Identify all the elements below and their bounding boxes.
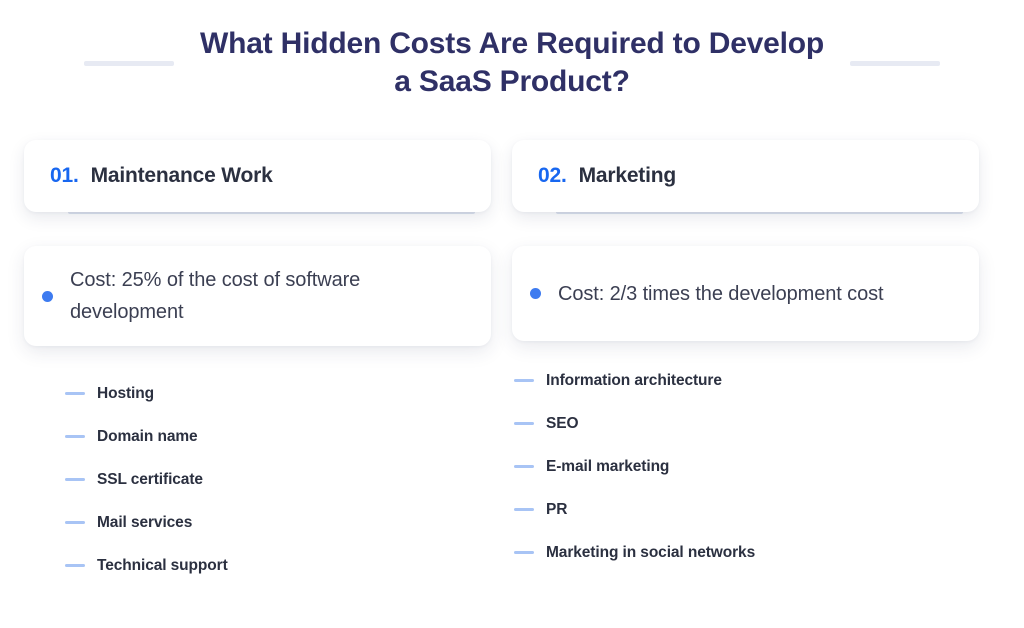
decorative-line-left: [84, 61, 174, 66]
header-card-02[interactable]: 02. Marketing: [512, 140, 979, 212]
dash-icon: [65, 521, 85, 524]
dash-icon: [514, 465, 534, 468]
list-item[interactable]: E-mail marketing: [514, 445, 979, 488]
list-item-label: Domain name: [97, 428, 198, 446]
list-item-label: PR: [546, 501, 567, 519]
cost-card-01[interactable]: Cost: 25% of the cost of software develo…: [24, 246, 491, 346]
card-number-01: 01.: [50, 164, 79, 188]
card-number-02: 02.: [538, 164, 567, 188]
column-maintenance-work: 01. Maintenance Work Cost: 25% of the co…: [24, 140, 491, 587]
dash-icon: [65, 392, 85, 395]
cost-text-02: Cost: 2/3 times the development cost: [558, 278, 883, 310]
dash-icon: [514, 508, 534, 511]
page-title: What Hidden Costs Are Required to Develo…: [200, 25, 824, 101]
cost-card-02[interactable]: Cost: 2/3 times the development cost: [512, 246, 979, 341]
list-item[interactable]: Information architecture: [514, 359, 979, 402]
feature-list-marketing: Information architecture SEO E-mail mark…: [512, 359, 979, 574]
list-item[interactable]: SSL certificate: [65, 458, 491, 501]
page-title-line-2: a SaaS Product?: [394, 65, 629, 98]
list-item[interactable]: Hosting: [65, 372, 491, 415]
dash-icon: [65, 435, 85, 438]
dash-icon: [65, 564, 85, 567]
bullet-dot-icon: [530, 288, 541, 299]
column-marketing: 02. Marketing Cost: 2/3 times the develo…: [512, 140, 979, 587]
list-item-label: Mail services: [97, 514, 192, 532]
dash-icon: [514, 551, 534, 554]
title-row: What Hidden Costs Are Required to Develo…: [0, 0, 1024, 126]
bullet-dot-icon: [42, 291, 53, 302]
card-heading-01: Maintenance Work: [91, 164, 273, 188]
dash-icon: [514, 379, 534, 382]
decorative-line-right: [850, 61, 940, 66]
dash-icon: [65, 478, 85, 481]
list-item[interactable]: PR: [514, 488, 979, 531]
list-item[interactable]: Technical support: [65, 544, 491, 587]
list-item[interactable]: Marketing in social networks: [514, 531, 979, 574]
list-item-label: E-mail marketing: [546, 458, 669, 476]
card-heading-02: Marketing: [579, 164, 676, 188]
dash-icon: [514, 422, 534, 425]
list-item[interactable]: Mail services: [65, 501, 491, 544]
list-item-label: SSL certificate: [97, 471, 203, 489]
list-item-label: Marketing in social networks: [546, 544, 755, 562]
list-item[interactable]: Domain name: [65, 415, 491, 458]
list-item-label: Information architecture: [546, 372, 722, 390]
header-card-01[interactable]: 01. Maintenance Work: [24, 140, 491, 212]
page-title-line-1: What Hidden Costs Are Required to Develo…: [200, 27, 824, 60]
list-item-label: Technical support: [97, 557, 228, 575]
list-item-label: Hosting: [97, 385, 154, 403]
cost-text-01: Cost: 25% of the cost of software develo…: [70, 264, 469, 328]
list-item-label: SEO: [546, 415, 578, 433]
list-item[interactable]: SEO: [514, 402, 979, 445]
columns-container: 01. Maintenance Work Cost: 25% of the co…: [0, 140, 1024, 587]
feature-list-maintenance: Hosting Domain name SSL certificate Mail…: [24, 372, 491, 587]
